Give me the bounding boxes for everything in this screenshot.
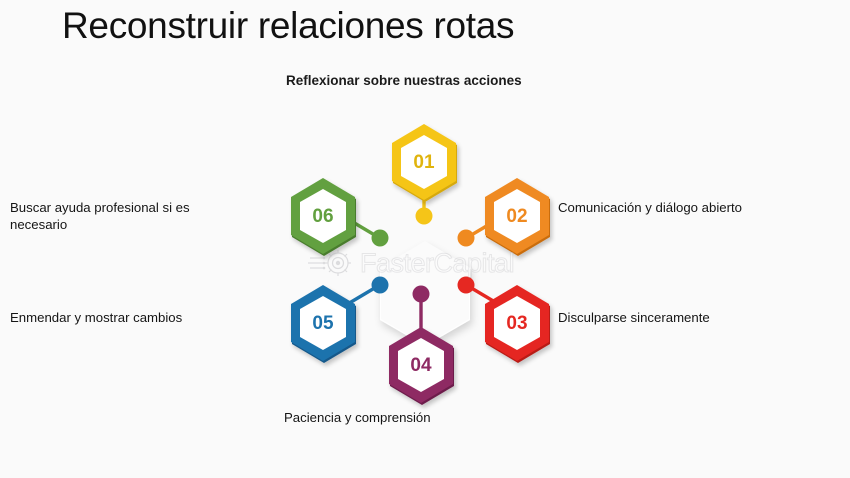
node-label-03: Disculparse sinceramente [558, 309, 838, 326]
node-dot-05 [372, 277, 389, 294]
page-title: Reconstruir relaciones rotas [62, 5, 514, 47]
node-number-06: 06 [312, 206, 333, 227]
node-label-02: Comunicación y diálogo abierto [558, 199, 838, 216]
slide-canvas: Reconstruir relaciones rotas Reflexionar… [0, 0, 850, 478]
node-number-05: 05 [312, 313, 334, 334]
node-05[interactable]: 05 [291, 277, 389, 364]
hexagon-infographic: 01 02 [0, 100, 850, 440]
node-number-02: 02 [506, 206, 527, 227]
node-label-04: Paciencia y comprensión [284, 409, 534, 426]
node-number-04: 04 [410, 355, 432, 376]
node-dot-03 [458, 277, 475, 294]
infographic-svg: 01 02 [0, 100, 850, 440]
node-dot-04 [413, 286, 430, 303]
node-06[interactable]: 06 [291, 178, 389, 256]
node-dot-02 [458, 230, 475, 247]
node-02[interactable]: 02 [458, 178, 551, 256]
node-01[interactable]: 01 [392, 124, 457, 225]
node-number-03: 03 [506, 313, 527, 334]
node-label-05: Enmendar y mostrar cambios [10, 309, 242, 326]
node-dot-01 [416, 208, 433, 225]
node-number-01: 01 [413, 152, 435, 173]
node-03[interactable]: 03 [458, 277, 551, 364]
node-dot-06 [372, 230, 389, 247]
node-label-01: Reflexionar sobre nuestras acciones [286, 73, 522, 88]
node-label-06: Buscar ayuda profesional si es necesario [10, 199, 242, 233]
